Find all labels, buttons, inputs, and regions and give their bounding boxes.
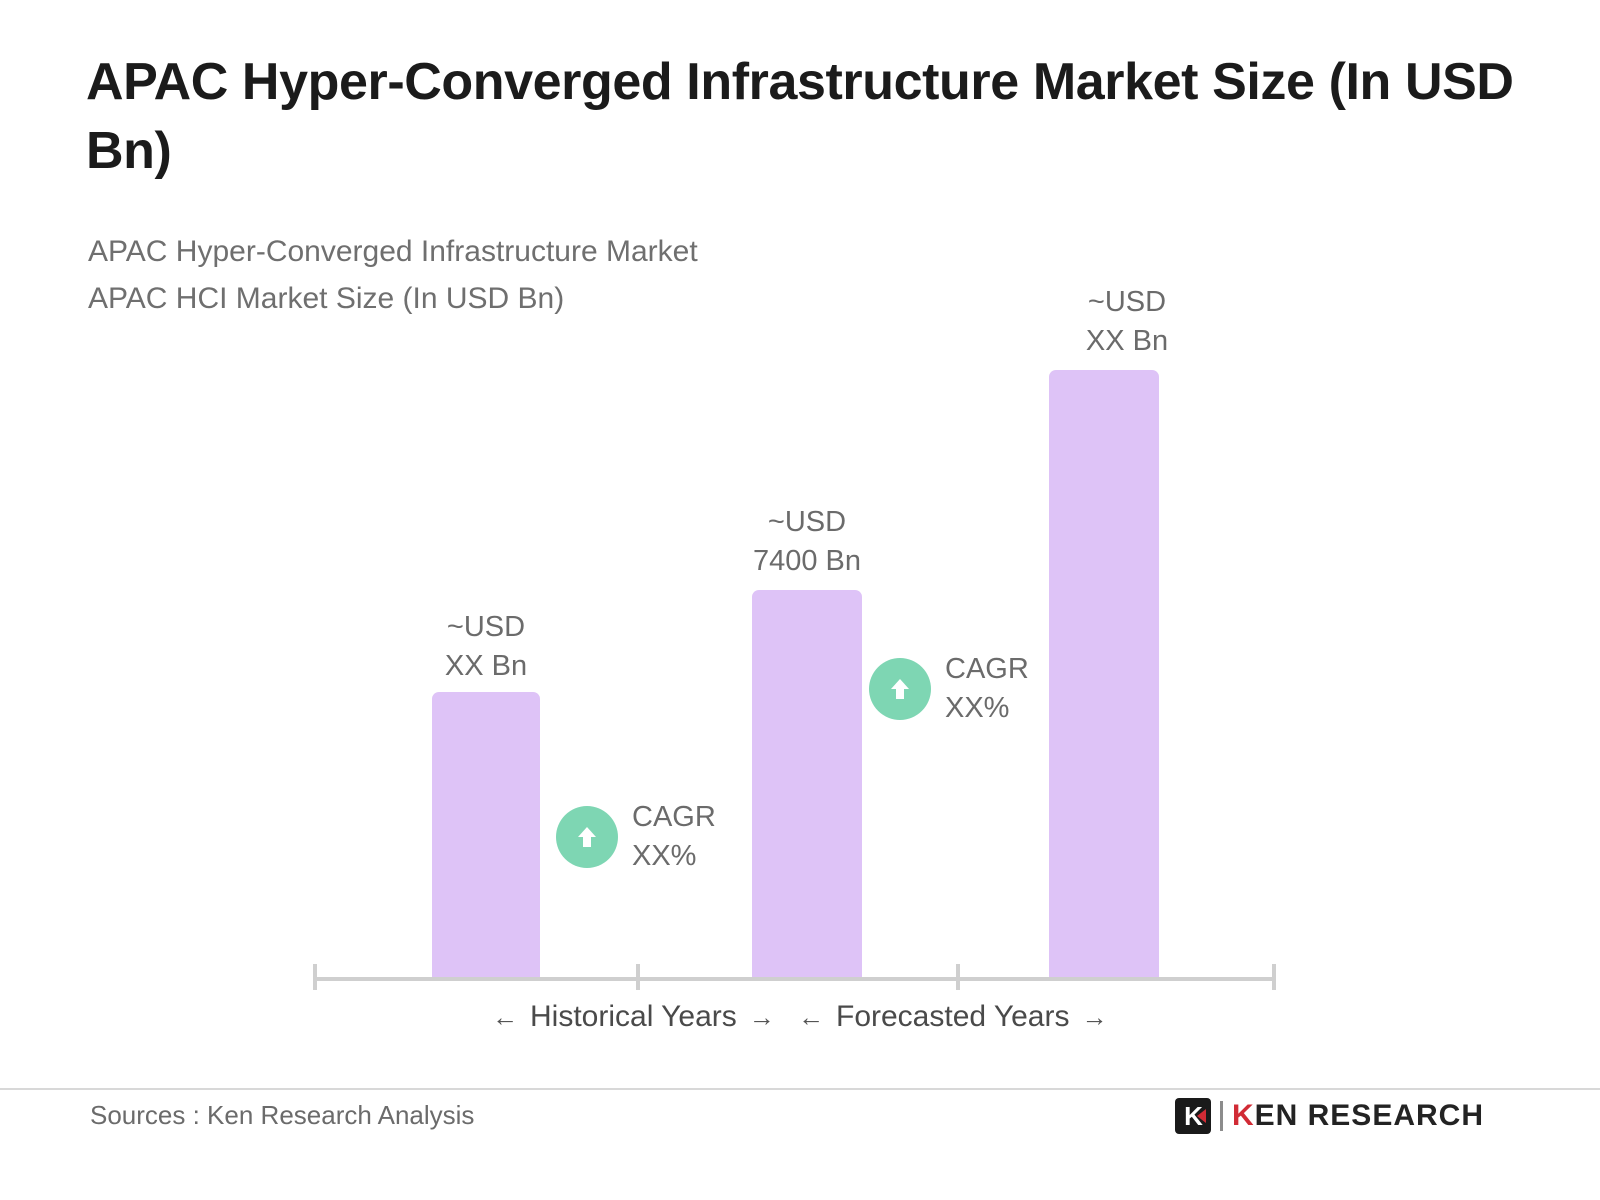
cagr-callout-2: CAGR XX% (869, 650, 1029, 728)
axis-tick-end (1272, 964, 1276, 990)
bar-value-label-3: ~USD XX Bn (1027, 283, 1227, 362)
bar-chart: ~USD XX Bn ~USD 7400 Bn ~USD XX Bn CAGR … (0, 0, 1600, 1060)
x-axis-line (313, 977, 1275, 981)
axis-section-forecasted: ← Forecasted Years → (798, 1000, 1107, 1034)
logo-wordmark-rest: EN RESEARCH (1255, 1099, 1484, 1132)
right-arrow-icon: → (749, 1002, 775, 1033)
axis-section-historical-label: Historical Years (530, 1000, 737, 1034)
cagr-label-1: CAGR XX% (632, 798, 716, 876)
slide-canvas: APAC Hyper-Converged Infrastructure Mark… (0, 0, 1600, 1200)
right-arrow-icon: → (1081, 1002, 1107, 1033)
axis-section-forecasted-label: Forecasted Years (836, 1000, 1069, 1034)
sources-text: Sources : Ken Research Analysis (90, 1100, 474, 1131)
logo-divider (1220, 1101, 1223, 1131)
axis-tick-mid-2 (956, 964, 960, 990)
arrow-up-icon (556, 806, 618, 868)
ken-research-logo: K KEN RESEARCH (1175, 1098, 1484, 1134)
logo-triangle-icon (1197, 1109, 1206, 1123)
logo-wordmark-k: K (1232, 1099, 1255, 1132)
footer-divider (0, 1088, 1600, 1090)
bar-1[interactable] (432, 692, 540, 979)
bar-2[interactable] (752, 590, 862, 979)
cagr-callout-1: CAGR XX% (556, 798, 716, 876)
left-arrow-icon: ← (492, 1002, 518, 1033)
axis-tick-start (313, 964, 317, 990)
bar-value-label-1: ~USD XX Bn (386, 608, 586, 687)
logo-k-mark-icon: K (1175, 1098, 1211, 1134)
axis-tick-mid (636, 964, 640, 990)
cagr-label-2: CAGR XX% (945, 650, 1029, 728)
bar-value-label-2: ~USD 7400 Bn (707, 503, 907, 582)
bar-3[interactable] (1049, 370, 1159, 979)
arrow-up-icon (869, 658, 931, 720)
axis-section-historical: ← Historical Years → (492, 1000, 775, 1034)
logo-wordmark: KEN RESEARCH (1232, 1099, 1484, 1133)
left-arrow-icon: ← (798, 1002, 824, 1033)
